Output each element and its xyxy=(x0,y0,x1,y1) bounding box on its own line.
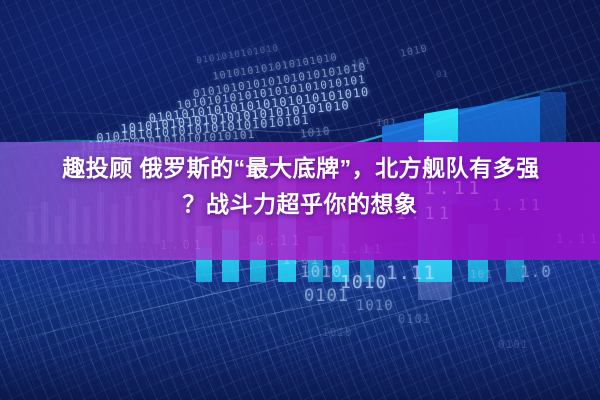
decimal-overlay: 1.01 xyxy=(160,238,205,252)
headline-line-1: 趣投顾 俄罗斯的“最大底牌”，北方舰队有多强 xyxy=(0,150,600,186)
decimal-overlay: 1.11 xyxy=(340,242,385,256)
image-canvas: 0101010101010 101010101010101010 0101010… xyxy=(0,0,600,400)
decimal-overlay: 0.11 xyxy=(256,234,303,249)
page-title: 趣投顾 俄罗斯的“最大底牌”，北方舰队有多强 ？战斗力超乎你的想象 xyxy=(0,150,600,222)
decimal-overlay: 1.11 xyxy=(556,232,600,246)
perspective-grid-lower xyxy=(0,250,600,400)
background-lower-gradient xyxy=(0,258,600,400)
headline-line-2: ？战斗力超乎你的想象 xyxy=(0,186,600,222)
